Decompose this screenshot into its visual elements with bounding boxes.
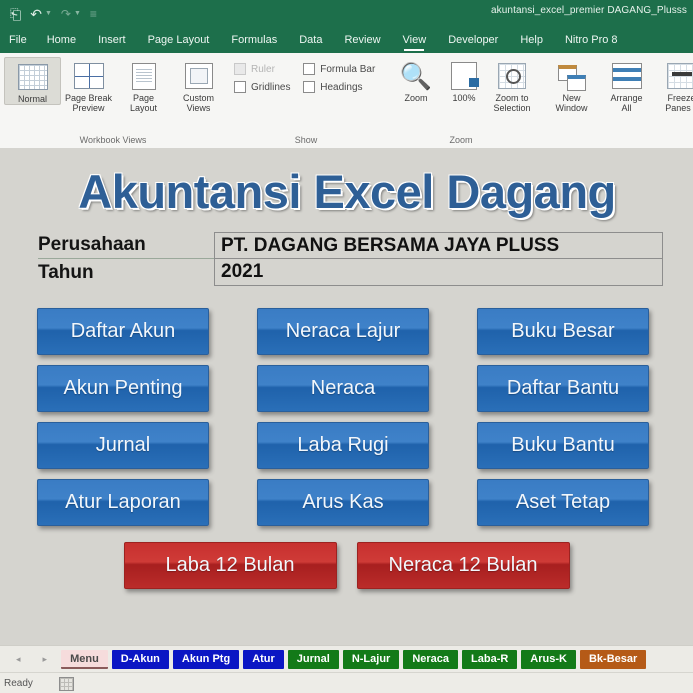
sheet-tab-atur[interactable]: Atur	[243, 650, 284, 669]
ribbon-tab-view[interactable]: View	[392, 27, 438, 53]
page-title: Akuntansi Excel Dagang	[78, 164, 616, 219]
normal-view-button[interactable]: Normal	[4, 57, 61, 105]
button-aset-tetap[interactable]: Aset Tetap	[477, 479, 649, 526]
freeze-panes-button[interactable]: Freeze Panes ▾	[654, 57, 693, 113]
menu-button-row: Jurnal Laba Rugi Buku Bantu	[0, 422, 693, 469]
new-window-button[interactable]: New Window	[544, 57, 599, 113]
year-label: Tahun	[38, 259, 214, 286]
button-buku-besar[interactable]: Buku Besar	[477, 308, 649, 355]
page-layout-icon	[132, 59, 156, 93]
ribbon-tab-formulas[interactable]: Formulas	[220, 27, 288, 53]
ribbon-tab-page-layout[interactable]: Page Layout	[137, 27, 221, 53]
year-row: Tahun 2021	[38, 259, 663, 286]
zoom-100-button[interactable]: 100%	[440, 57, 488, 103]
arrange-all-icon	[612, 59, 642, 93]
gridlines-checkbox[interactable]: Gridlines	[234, 81, 303, 93]
sheet-tab-bar: ◂ ▸ Menu D-Akun Akun Ptg Atur Jurnal N-L…	[0, 645, 693, 673]
button-arus-kas[interactable]: Arus Kas	[257, 479, 429, 526]
company-label: Perusahaan	[38, 232, 214, 259]
menu-red-button-row: Laba 12 Bulan Neraca 12 Bulan	[0, 542, 693, 589]
ribbon-group-label-show: Show	[226, 133, 386, 148]
button-akun-penting[interactable]: Akun Penting	[37, 365, 209, 412]
button-neraca-12-bulan[interactable]: Neraca 12 Bulan	[357, 542, 570, 589]
sheet-tab-n-lajur[interactable]: N-Lajur	[343, 650, 400, 669]
sheet-tab-neraca[interactable]: Neraca	[403, 650, 458, 669]
zoom-to-selection-button[interactable]: Zoom to Selection	[488, 57, 536, 113]
button-buku-bantu[interactable]: Buku Bantu	[477, 422, 649, 469]
sheet-tab-jurnal[interactable]: Jurnal	[288, 650, 339, 669]
sheet-tab-menu[interactable]: Menu	[61, 650, 108, 669]
checkbox-icon	[303, 63, 315, 75]
redo-icon[interactable]: ↷	[61, 7, 71, 21]
ribbon-tab-data[interactable]: Data	[288, 27, 333, 53]
status-bar: Ready	[0, 672, 693, 693]
normal-view-icon	[18, 60, 48, 94]
button-neraca-lajur[interactable]: Neraca Lajur	[257, 308, 429, 355]
status-text: Ready	[0, 678, 33, 689]
company-value[interactable]: PT. DAGANG BERSAMA JAYA PLUSS	[214, 232, 663, 259]
redo-dropdown-icon[interactable]: ▼	[74, 10, 81, 17]
button-atur-laporan[interactable]: Atur Laporan	[37, 479, 209, 526]
ribbon-tab-nitro-pro[interactable]: Nitro Pro 8	[554, 27, 629, 53]
worksheet-menu: Akuntansi Excel Dagang Perusahaan PT. DA…	[0, 148, 693, 645]
window-title: akuntansi_excel_premier DAGANG_Plusss	[491, 5, 687, 16]
button-daftar-akun[interactable]: Daftar Akun	[37, 308, 209, 355]
sheet-tab-arus-k[interactable]: Arus-K	[521, 650, 576, 669]
formula-bar-checkbox[interactable]: Formula Bar	[303, 63, 386, 75]
ribbon-tab-home[interactable]: Home	[36, 27, 87, 53]
save-icon[interactable]: ⎗	[10, 7, 21, 21]
checkbox-icon	[303, 81, 315, 93]
arrange-all-button[interactable]: Arrange All	[599, 57, 654, 113]
year-value[interactable]: 2021	[214, 259, 663, 286]
new-window-icon	[558, 59, 586, 93]
banner: Akuntansi Excel Dagang	[22, 160, 672, 222]
company-info-block: Perusahaan PT. DAGANG BERSAMA JAYA PLUSS…	[38, 232, 663, 286]
sheet-tab-bk-besar[interactable]: Bk-Besar	[580, 650, 646, 669]
ribbon-tab-help[interactable]: Help	[509, 27, 554, 53]
sheet-tab-laba-r[interactable]: Laba-R	[462, 650, 517, 669]
ribbon-group-show: Ruler Gridlines Formula Bar Headings	[226, 53, 386, 148]
checkbox-icon	[234, 63, 246, 75]
ribbon-group-window: New Window Arrange All Freeze Panes ▾	[536, 53, 693, 148]
menu-button-grid: Daftar Akun Neraca Lajur Buku Besar Akun…	[0, 308, 693, 589]
menu-button-row: Akun Penting Neraca Daftar Bantu	[0, 365, 693, 412]
page-break-preview-icon	[74, 59, 104, 93]
ribbon-tab-strip: File Home Insert Page Layout Formulas Da…	[0, 27, 693, 53]
zoom-icon: 🔍	[400, 59, 432, 93]
ribbon-group-workbook-views: Normal Page Break Preview Page Layout Cu…	[0, 53, 226, 148]
freeze-panes-icon	[667, 59, 693, 93]
menu-button-row: Daftar Akun Neraca Lajur Buku Besar	[0, 308, 693, 355]
ribbon-body: Normal Page Break Preview Page Layout Cu…	[0, 53, 693, 149]
menu-button-row: Atur Laporan Arus Kas Aset Tetap	[0, 479, 693, 526]
custom-views-button[interactable]: Custom Views	[171, 57, 226, 113]
ruler-checkbox[interactable]: Ruler	[234, 63, 303, 75]
button-laba-rugi[interactable]: Laba Rugi	[257, 422, 429, 469]
customize-quick-access-icon[interactable]: ≡	[90, 7, 97, 21]
ribbon-group-zoom: 🔍 Zoom 100% Zoom to Selection Zoom	[386, 53, 536, 148]
undo-dropdown-icon[interactable]: ▼	[45, 10, 52, 17]
ribbon-tab-developer[interactable]: Developer	[437, 27, 509, 53]
sheet-tab-navigation: ◂ ▸	[0, 654, 61, 665]
ribbon-group-label-workbook-views: Workbook Views	[0, 133, 226, 148]
undo-icon[interactable]: ↶	[30, 7, 42, 21]
zoom-button[interactable]: 🔍 Zoom	[392, 57, 440, 103]
spreadsheet-status-icon	[59, 677, 74, 691]
page-layout-view-button[interactable]: Page Layout	[116, 57, 171, 113]
ribbon-tab-review[interactable]: Review	[333, 27, 391, 53]
headings-checkbox[interactable]: Headings	[303, 81, 386, 93]
button-neraca[interactable]: Neraca	[257, 365, 429, 412]
zoom-100-icon	[451, 59, 477, 93]
ribbon-group-label-window: Wind	[536, 133, 693, 148]
title-bar: ⎗ ↶ ▼ ↷ ▼ ≡ akuntansi_excel_premier DAGA…	[0, 0, 693, 27]
page-break-preview-button[interactable]: Page Break Preview	[61, 57, 116, 113]
sheet-tab-akun-ptg[interactable]: Akun Ptg	[173, 650, 239, 669]
zoom-to-selection-icon	[498, 59, 526, 93]
checkbox-icon	[234, 81, 246, 93]
sheet-tab-d-akun[interactable]: D-Akun	[112, 650, 169, 669]
button-daftar-bantu[interactable]: Daftar Bantu	[477, 365, 649, 412]
company-row: Perusahaan PT. DAGANG BERSAMA JAYA PLUSS	[38, 232, 663, 259]
button-jurnal[interactable]: Jurnal	[37, 422, 209, 469]
excel-window: ⎗ ↶ ▼ ↷ ▼ ≡ akuntansi_excel_premier DAGA…	[0, 0, 693, 693]
quick-access-toolbar: ⎗ ↶ ▼ ↷ ▼ ≡	[0, 7, 97, 21]
ribbon-group-label-zoom: Zoom	[386, 133, 536, 148]
ribbon-tab-insert[interactable]: Insert	[87, 27, 137, 53]
custom-views-icon	[185, 59, 213, 93]
ribbon-tab-file[interactable]: File	[0, 27, 36, 53]
previous-sheet-icon[interactable]: ◂	[16, 654, 21, 665]
button-laba-12-bulan[interactable]: Laba 12 Bulan	[124, 542, 337, 589]
next-sheet-icon[interactable]: ▸	[43, 654, 48, 665]
